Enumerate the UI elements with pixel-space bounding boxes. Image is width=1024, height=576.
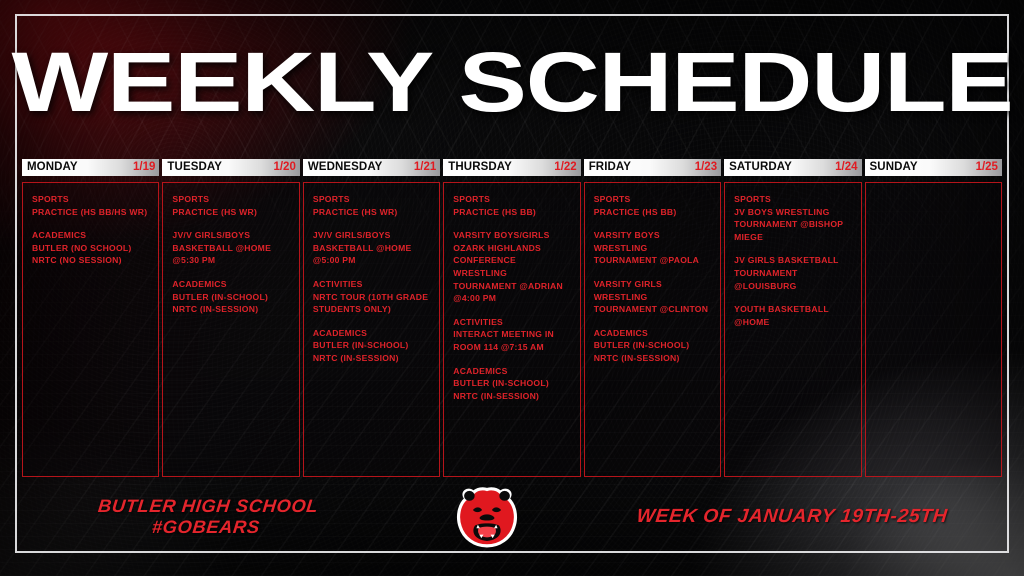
event-detail-line: JV BOYS WRESTLING bbox=[734, 206, 852, 219]
event-category: ACADEMICS bbox=[32, 229, 150, 242]
event-category: ACADEMICS bbox=[313, 327, 431, 340]
event-detail-line: TOURNAMENT @PAOLA bbox=[594, 254, 712, 267]
event-detail-line: PRACTICE (HS BB) bbox=[453, 206, 571, 219]
event-detail-line: BASKETBALL @HOME bbox=[313, 242, 431, 255]
event-block: SPORTSPRACTICE (HS BB/HS WR) bbox=[32, 193, 150, 218]
event-detail-line: STUDENTS ONLY) bbox=[313, 303, 431, 316]
day-name: FRIDAY bbox=[589, 162, 631, 173]
school-name: BUTLER HIGH SCHOOL bbox=[18, 496, 398, 517]
day-header-thursday: THURSDAY1/22 bbox=[443, 159, 580, 176]
day-column-tuesday: TUESDAY1/20SPORTSPRACTICE (HS WR)JV/V GI… bbox=[162, 159, 299, 477]
event-detail-line: ROOM 114 @7:15 AM bbox=[453, 341, 571, 354]
day-column-thursday: THURSDAY1/22SPORTSPRACTICE (HS BB)VARSIT… bbox=[443, 159, 580, 477]
day-name: WEDNESDAY bbox=[308, 162, 383, 173]
day-name: SATURDAY bbox=[729, 162, 792, 173]
day-column-saturday: SATURDAY1/24SPORTSJV BOYS WRESTLINGTOURN… bbox=[724, 159, 861, 477]
event-block: SPORTSJV BOYS WRESTLINGTOURNAMENT @BISHO… bbox=[734, 193, 852, 243]
event-category: VARSITY BOYS bbox=[594, 229, 712, 242]
day-header-wednesday: WEDNESDAY1/21 bbox=[303, 159, 440, 176]
event-detail-line: NRTC (NO SESSION) bbox=[32, 254, 150, 267]
event-detail-line: TOURNAMENT @ADRIAN bbox=[453, 280, 571, 293]
event-detail-line: NRTC TOUR (10TH GRADE bbox=[313, 291, 431, 304]
bear-mascot-logo-icon bbox=[451, 486, 523, 548]
day-header-friday: FRIDAY1/23 bbox=[584, 159, 721, 176]
event-detail-line: PRACTICE (HS BB) bbox=[594, 206, 712, 219]
day-date: 1/22 bbox=[554, 162, 576, 173]
event-detail-line: @5:00 PM bbox=[313, 254, 431, 267]
event-category: JV/V GIRLS/BOYS bbox=[172, 229, 290, 242]
event-detail-line: BUTLER (IN-SCHOOL) bbox=[453, 377, 571, 390]
event-block: ACADEMICSBUTLER (IN-SCHOOL)NRTC (IN-SESS… bbox=[172, 278, 290, 316]
event-detail-line: WRESTLING bbox=[594, 291, 712, 304]
event-block: SPORTSPRACTICE (HS WR) bbox=[313, 193, 431, 218]
day-header-sunday: SUNDAY1/25 bbox=[865, 159, 1002, 176]
day-events-panel: SPORTSPRACTICE (HS BB)VARSITY BOYSWRESTL… bbox=[584, 182, 721, 477]
event-category: ACADEMICS bbox=[453, 365, 571, 378]
event-category: ACADEMICS bbox=[594, 327, 712, 340]
day-header-monday: MONDAY1/19 bbox=[22, 159, 159, 176]
event-category: JV GIRLS BASKETBALL bbox=[734, 254, 852, 267]
event-category: SPORTS bbox=[32, 193, 150, 206]
event-detail-line: CONFERENCE WRESTLING bbox=[453, 254, 571, 279]
event-block: VARSITY BOYSWRESTLINGTOURNAMENT @PAOLA bbox=[594, 229, 712, 267]
event-category: SPORTS bbox=[734, 193, 852, 206]
event-detail-line: NRTC (IN-SESSION) bbox=[313, 352, 431, 365]
event-category: VARSITY GIRLS bbox=[594, 278, 712, 291]
event-category: VARSITY BOYS/GIRLS bbox=[453, 229, 571, 242]
event-detail-line: INTERACT MEETING IN bbox=[453, 328, 571, 341]
day-date: 1/21 bbox=[414, 162, 436, 173]
event-detail-line: TOURNAMENT @CLINTON bbox=[594, 303, 712, 316]
event-block: VARSITY BOYS/GIRLSOZARK HIGHLANDSCONFERE… bbox=[453, 229, 571, 305]
day-events-panel: SPORTSPRACTICE (HS WR)JV/V GIRLS/BOYSBAS… bbox=[162, 182, 299, 477]
day-name: SUNDAY bbox=[870, 162, 918, 173]
event-detail-line: TOURNAMENT @LOUISBURG bbox=[734, 267, 852, 292]
day-column-sunday: SUNDAY1/25 bbox=[865, 159, 1002, 477]
school-branding: BUTLER HIGH SCHOOL #GOBEARS bbox=[16, 496, 398, 538]
event-detail-line: PRACTICE (HS BB/HS WR) bbox=[32, 206, 150, 219]
event-block: VARSITY GIRLSWRESTLINGTOURNAMENT @CLINTO… bbox=[594, 278, 712, 316]
day-date: 1/20 bbox=[273, 162, 295, 173]
event-category: ACTIVITIES bbox=[453, 316, 571, 329]
event-block: ACTIVITIESNRTC TOUR (10TH GRADESTUDENTS … bbox=[313, 278, 431, 316]
event-block: ACADEMICSBUTLER (IN-SCHOOL)NRTC (IN-SESS… bbox=[453, 365, 571, 403]
weekly-schedule-graphic: WEEKLY SCHEDULE MONDAY1/19SPORTSPRACTICE… bbox=[0, 0, 1024, 576]
day-header-saturday: SATURDAY1/24 bbox=[724, 159, 861, 176]
event-block: SPORTSPRACTICE (HS BB) bbox=[453, 193, 571, 218]
event-block: ACTIVITIESINTERACT MEETING INROOM 114 @7… bbox=[453, 316, 571, 354]
event-category: ACADEMICS bbox=[172, 278, 290, 291]
week-range-label: WEEK OF JANUARY 19TH-25TH bbox=[577, 506, 1008, 528]
page-title: WEEKLY SCHEDULE bbox=[0, 40, 1024, 124]
event-detail-line: BUTLER (NO SCHOOL) bbox=[32, 242, 150, 255]
event-detail-line: BASKETBALL @HOME bbox=[172, 242, 290, 255]
day-date: 1/23 bbox=[695, 162, 717, 173]
event-detail-line: @5:30 PM bbox=[172, 254, 290, 267]
event-block: YOUTH BASKETBALL @HOME bbox=[734, 303, 852, 328]
event-detail-line: WRESTLING bbox=[594, 242, 712, 255]
event-block: JV/V GIRLS/BOYSBASKETBALL @HOME@5:00 PM bbox=[313, 229, 431, 267]
event-detail-line: OZARK HIGHLANDS bbox=[453, 242, 571, 255]
event-detail-line: PRACTICE (HS WR) bbox=[172, 206, 290, 219]
event-detail-line: @4:00 PM bbox=[453, 292, 571, 305]
event-category: SPORTS bbox=[172, 193, 290, 206]
event-detail-line: NRTC (IN-SESSION) bbox=[172, 303, 290, 316]
event-block: ACADEMICSBUTLER (IN-SCHOOL)NRTC (IN-SESS… bbox=[313, 327, 431, 365]
event-block: JV GIRLS BASKETBALLTOURNAMENT @LOUISBURG bbox=[734, 254, 852, 292]
event-block: SPORTSPRACTICE (HS WR) bbox=[172, 193, 290, 218]
day-name: TUESDAY bbox=[167, 162, 222, 173]
event-detail-line: NRTC (IN-SESSION) bbox=[594, 352, 712, 365]
day-events-panel bbox=[865, 182, 1002, 477]
day-header-tuesday: TUESDAY1/20 bbox=[162, 159, 299, 176]
day-name: MONDAY bbox=[27, 162, 78, 173]
week-grid: MONDAY1/19SPORTSPRACTICE (HS BB/HS WR)AC… bbox=[22, 159, 1002, 477]
event-category: SPORTS bbox=[594, 193, 712, 206]
event-detail-line: TOURNAMENT @BISHOP bbox=[734, 218, 852, 231]
event-detail-line: PRACTICE (HS WR) bbox=[313, 206, 431, 219]
school-hashtag: #GOBEARS bbox=[16, 517, 396, 538]
day-column-monday: MONDAY1/19SPORTSPRACTICE (HS BB/HS WR)AC… bbox=[22, 159, 159, 477]
day-events-panel: SPORTSJV BOYS WRESTLINGTOURNAMENT @BISHO… bbox=[724, 182, 861, 477]
event-detail-line: NRTC (IN-SESSION) bbox=[453, 390, 571, 403]
event-block: JV/V GIRLS/BOYSBASKETBALL @HOME@5:30 PM bbox=[172, 229, 290, 267]
event-detail-line: BUTLER (IN-SCHOOL) bbox=[313, 339, 431, 352]
event-category: JV/V GIRLS/BOYS bbox=[313, 229, 431, 242]
event-block: ACADEMICSBUTLER (NO SCHOOL)NRTC (NO SESS… bbox=[32, 229, 150, 267]
event-block: SPORTSPRACTICE (HS BB) bbox=[594, 193, 712, 218]
day-column-friday: FRIDAY1/23SPORTSPRACTICE (HS BB)VARSITY … bbox=[584, 159, 721, 477]
day-events-panel: SPORTSPRACTICE (HS BB/HS WR)ACADEMICSBUT… bbox=[22, 182, 159, 477]
event-category: ACTIVITIES bbox=[313, 278, 431, 291]
day-column-wednesday: WEDNESDAY1/21SPORTSPRACTICE (HS WR)JV/V … bbox=[303, 159, 440, 477]
day-date: 1/19 bbox=[133, 162, 155, 173]
event-category: SPORTS bbox=[313, 193, 431, 206]
day-name: THURSDAY bbox=[448, 162, 512, 173]
event-category: SPORTS bbox=[453, 193, 571, 206]
day-events-panel: SPORTSPRACTICE (HS BB)VARSITY BOYS/GIRLS… bbox=[443, 182, 580, 477]
day-date: 1/25 bbox=[976, 162, 998, 173]
event-detail-line: MIEGE bbox=[734, 231, 852, 244]
day-events-panel: SPORTSPRACTICE (HS WR)JV/V GIRLS/BOYSBAS… bbox=[303, 182, 440, 477]
event-category: YOUTH BASKETBALL @HOME bbox=[734, 303, 852, 328]
day-date: 1/24 bbox=[835, 162, 857, 173]
footer: BUTLER HIGH SCHOOL #GOBEARS bbox=[22, 488, 1002, 546]
event-detail-line: BUTLER (IN-SCHOOL) bbox=[594, 339, 712, 352]
event-block: ACADEMICSBUTLER (IN-SCHOOL)NRTC (IN-SESS… bbox=[594, 327, 712, 365]
event-detail-line: BUTLER (IN-SCHOOL) bbox=[172, 291, 290, 304]
